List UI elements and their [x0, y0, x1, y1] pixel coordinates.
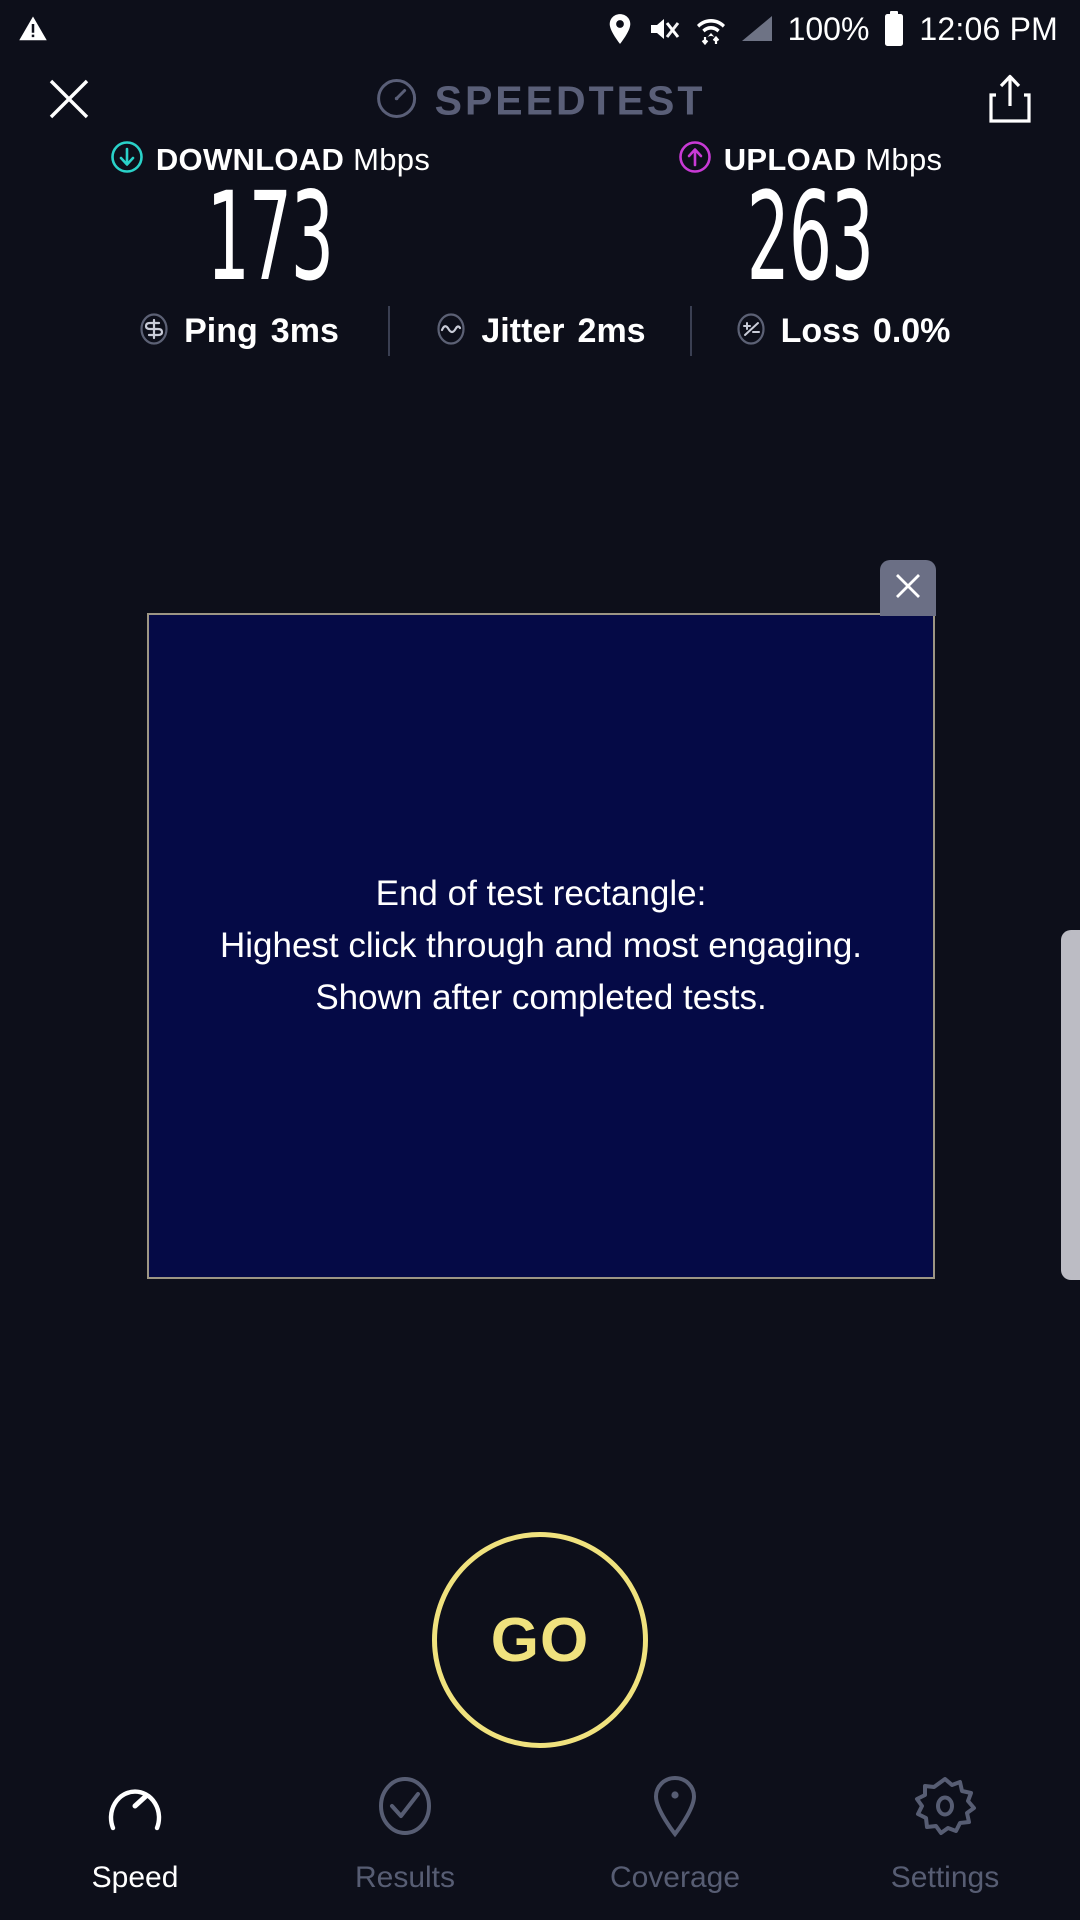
- status-bar: 100% 12:06 PM: [0, 0, 1080, 58]
- volume-muted-icon: [648, 14, 682, 44]
- metric-loss: Loss 0.0%: [692, 312, 992, 351]
- map-pin-icon: [641, 1772, 709, 1845]
- battery-percent-label: 100%: [788, 11, 870, 48]
- result-values-row: 173 263: [0, 176, 1080, 298]
- share-button[interactable]: [982, 70, 1038, 132]
- status-bar-right: 100% 12:06 PM: [606, 11, 1058, 48]
- share-icon: [987, 73, 1033, 130]
- speedtest-app-screen: 100% 12:06 PM: [0, 0, 1080, 1920]
- battery-full-icon: [883, 11, 905, 47]
- upload-speed-value: 263: [747, 176, 873, 298]
- metric-loss-value: 0.0%: [873, 312, 951, 351]
- location-pin-icon: [606, 13, 634, 45]
- nav-item-results[interactable]: Results: [270, 1772, 540, 1895]
- nav-item-settings[interactable]: Settings: [810, 1772, 1080, 1895]
- gear-icon: [911, 1772, 979, 1845]
- download-arrow-icon: [110, 140, 144, 179]
- close-icon: [891, 569, 925, 608]
- go-button[interactable]: GO: [432, 1532, 648, 1748]
- nav-item-coverage[interactable]: Coverage: [540, 1772, 810, 1895]
- speedometer-icon: [101, 1772, 169, 1845]
- status-bar-left: [18, 14, 48, 44]
- metric-ping-label: Ping: [184, 312, 258, 351]
- metric-jitter-value: 2ms: [578, 312, 646, 351]
- metric-jitter: Jitter 2ms: [390, 312, 690, 351]
- app-logo: SPEEDTEST: [375, 77, 706, 126]
- check-circle-icon: [371, 1772, 439, 1845]
- download-value-cell: 173: [0, 176, 540, 298]
- ad-line-1: End of test rectangle:: [220, 868, 862, 920]
- loss-icon: [734, 312, 768, 351]
- metric-loss-label: Loss: [781, 312, 860, 351]
- ping-icon: [137, 312, 171, 351]
- nav-item-speed[interactable]: Speed: [0, 1772, 270, 1895]
- wifi-icon: [696, 12, 726, 46]
- scrollbar-thumb[interactable]: [1061, 930, 1080, 1280]
- close-icon: [43, 73, 95, 130]
- result-labels-row: DOWNLOAD Mbps UPLOAD Mbps: [0, 140, 1080, 179]
- nav-item-coverage-label: Coverage: [610, 1861, 740, 1895]
- metric-jitter-label: Jitter: [481, 312, 564, 351]
- upload-arrow-icon: [678, 140, 712, 179]
- bottom-navigation-bar: Speed Results Coverage: [0, 1756, 1080, 1920]
- nav-item-speed-label: Speed: [92, 1861, 179, 1895]
- app-title: SPEEDTEST: [435, 78, 706, 125]
- cellular-signal-icon: [740, 14, 774, 44]
- speedtest-gauge-icon: [375, 77, 419, 126]
- advertisement-banner[interactable]: End of test rectangle: Highest click thr…: [147, 613, 935, 1279]
- jitter-icon: [434, 312, 468, 351]
- nav-item-results-label: Results: [355, 1861, 455, 1895]
- nav-item-settings-label: Settings: [891, 1861, 999, 1895]
- upload-value-cell: 263: [540, 176, 1080, 298]
- clock-time: 12:06 PM: [919, 11, 1058, 48]
- ad-close-button[interactable]: [880, 560, 936, 616]
- warning-triangle-icon: [18, 14, 48, 44]
- app-header: SPEEDTEST: [0, 58, 1080, 144]
- ad-line-3: Shown after completed tests.: [220, 972, 862, 1024]
- download-speed-value: 173: [207, 176, 333, 298]
- metric-ping-value: 3ms: [271, 312, 339, 351]
- close-button[interactable]: [38, 70, 100, 132]
- metrics-row: Ping 3ms Jitter 2ms: [0, 300, 1080, 362]
- ad-text: End of test rectangle: Highest click thr…: [208, 868, 874, 1023]
- metric-ping: Ping 3ms: [88, 312, 388, 351]
- go-button-label: GO: [491, 1605, 589, 1676]
- ad-line-2: Highest click through and most engaging.: [220, 920, 862, 972]
